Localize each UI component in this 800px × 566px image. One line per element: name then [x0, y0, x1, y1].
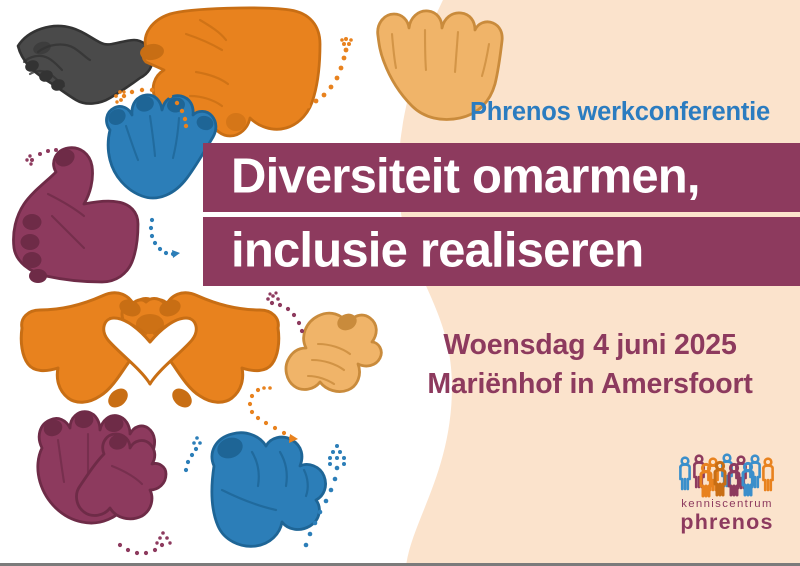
logo-people-icon: [674, 452, 780, 498]
poster-kicker: Phrenos werkconferentie: [455, 98, 785, 127]
phrenos-logo: kenniscentrum phrenos: [668, 452, 786, 534]
title-line-1: Diversiteit omarmen,: [231, 152, 700, 201]
event-date: Woensdag 4 juni 2025: [390, 326, 790, 365]
event-venue: Mariënhof in Amersfoort: [390, 365, 790, 404]
title-line-2: inclusie realiseren: [231, 226, 643, 275]
logo-tagline: kenniscentrum: [668, 499, 786, 510]
conference-poster: Phrenos werkconferentie Diversiteit omar…: [0, 0, 800, 566]
logo-name: phrenos: [668, 510, 786, 534]
event-details: Woensdag 4 juni 2025 Mariënhof in Amersf…: [390, 326, 790, 405]
title-banner-line-2: inclusie realiseren: [203, 217, 800, 286]
title-banner-line-1: Diversiteit omarmen,: [203, 143, 800, 212]
